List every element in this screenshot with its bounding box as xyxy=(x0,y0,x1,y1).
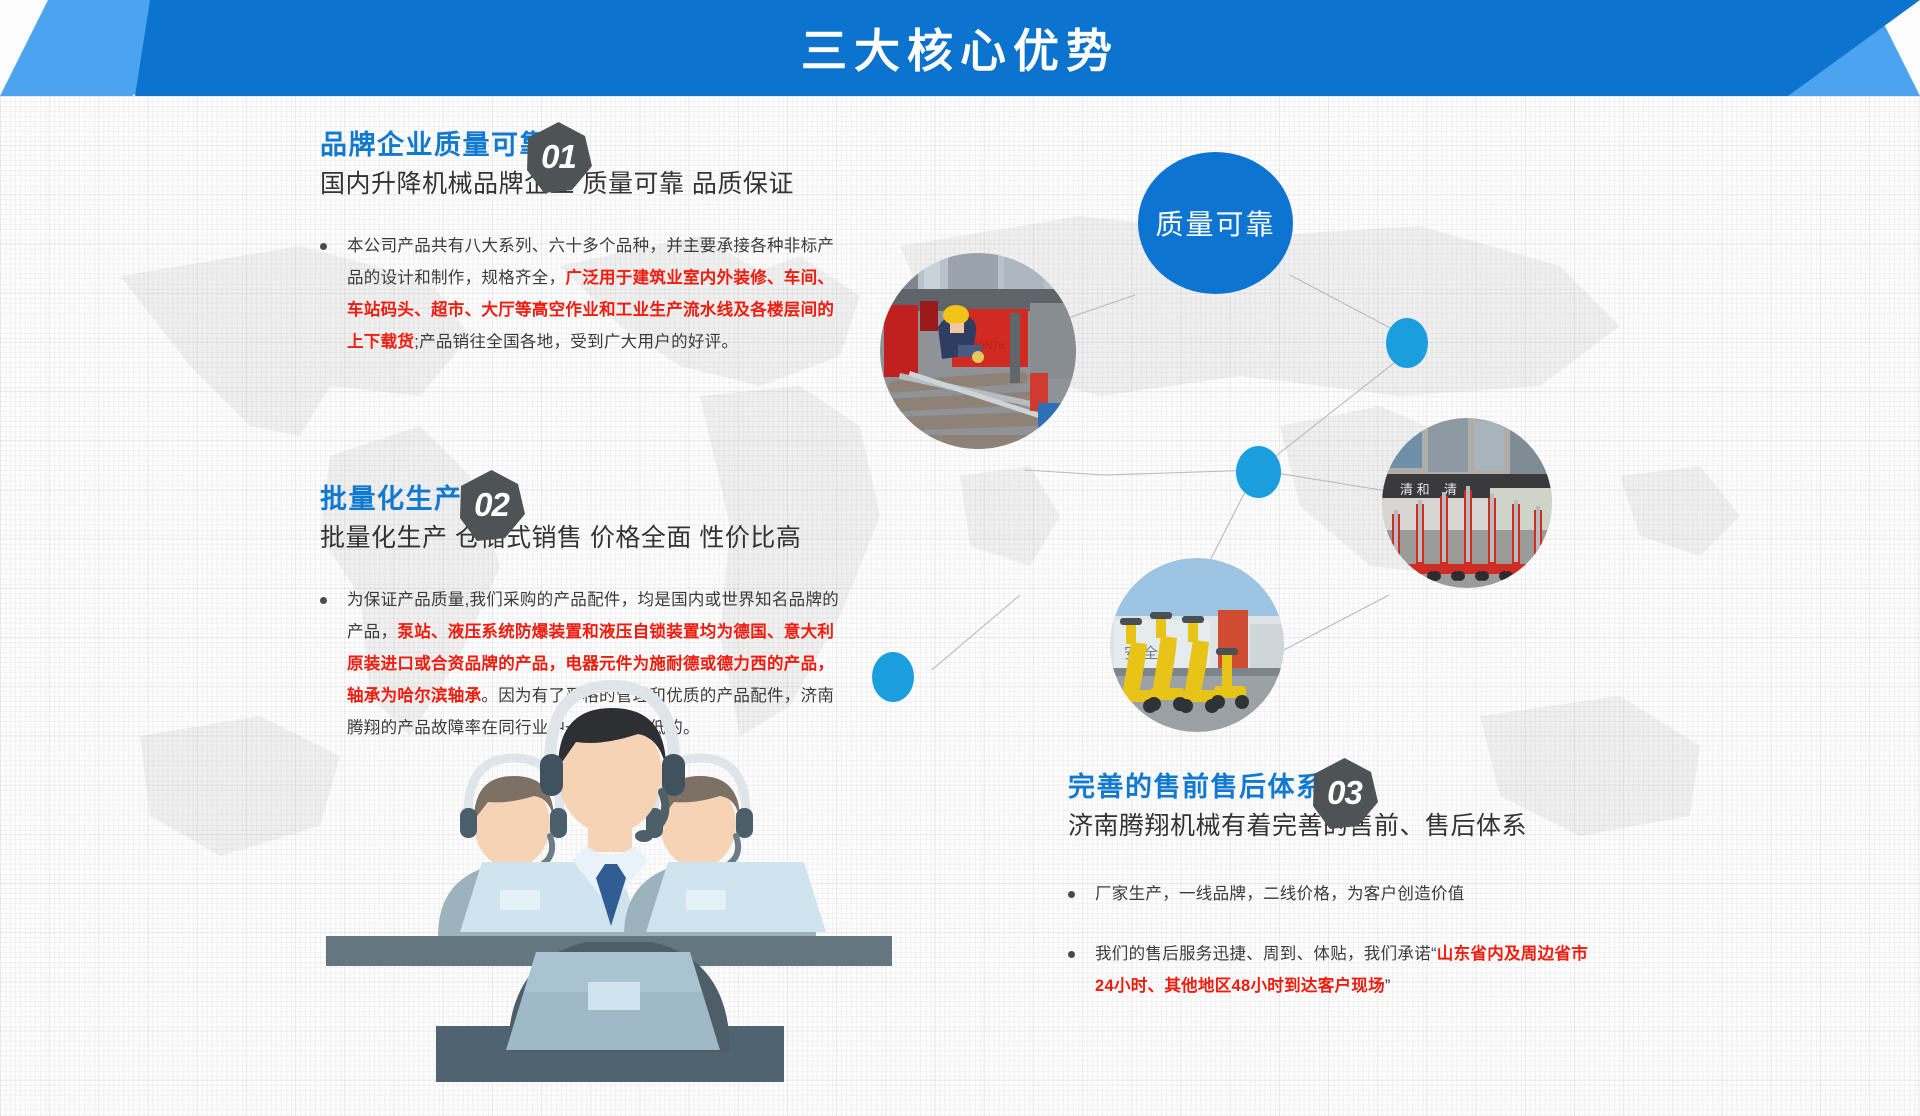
section-01-title: 品牌企业质量可靠 xyxy=(320,128,548,162)
storefront-lifts-photo: 清 和 清 xyxy=(1382,418,1552,588)
bullet-item: 本公司产品共有八大系列、六十多个品种，并主要承接各种非标产品的设计和制作，规格齐… xyxy=(320,230,840,358)
section-03-number-badge: 03 xyxy=(1311,758,1378,829)
bullet-item: 我们的售后服务迅捷、周到、体贴，我们承诺“山东省内及周边省市24小时、其他地区4… xyxy=(1068,938,1588,1002)
bullet-text: 本公司产品共有八大系列、六十多个品种，并主要承接各种非标产品的设计和制作，规格齐… xyxy=(347,230,840,358)
poster-page: 三大核心优势 品牌企业质量可靠 01 国内升降机械品牌企业 质量可靠 品质保证 … xyxy=(0,0,1920,1116)
bullet-text: 我们的售后服务迅捷、周到、体贴，我们承诺“山东省内及周边省市24小时、其他地区4… xyxy=(1095,938,1588,1002)
bullet-dot-icon xyxy=(320,243,327,250)
bullet-dot-icon xyxy=(1068,951,1075,958)
center-quality-label: 质量可靠 xyxy=(1155,203,1275,243)
section-01-bullets: 本公司产品共有八大系列、六十多个品种，并主要承接各种非标产品的设计和制作，规格齐… xyxy=(320,230,840,358)
section-02-head: 批量化生产 02 批量化生产 仓储式销售 价格全面 性价比高 xyxy=(320,482,840,556)
section-02-number: 02 xyxy=(474,486,509,526)
bullet-dot-icon xyxy=(320,597,327,604)
section-02-number-badge: 02 xyxy=(458,470,525,541)
svg-text:清 和: 清 和 xyxy=(1400,482,1430,497)
section-03-bullets: 厂家生产，一线品牌，二线价格，为客户创造价值 我们的售后服务迅捷、周到、体贴，我… xyxy=(1068,878,1588,1002)
quality-network-diagram: 质量可靠 640N7u xyxy=(860,140,1560,660)
section-03-number: 03 xyxy=(1327,774,1362,814)
advantage-section-03: 完善的售前售后体系 03 济南腾翔机械有着完善的售前、售后体系 厂家生产，一线品… xyxy=(1068,770,1588,1024)
call-center-agents-illustration xyxy=(300,640,920,1116)
bullet-text: 厂家生产，一线品牌，二线价格，为客户创造价值 xyxy=(1095,878,1465,910)
network-node-2 xyxy=(1236,446,1281,498)
factory-cutting-machine-photo: 640N7u xyxy=(880,253,1076,449)
bullet-item: 厂家生产，一线品牌，二线价格，为客户创造价值 xyxy=(1068,878,1588,910)
section-03-title: 完善的售前售后体系 xyxy=(1068,770,1325,804)
page-title: 三大核心优势 xyxy=(0,0,1920,96)
advantage-section-01: 品牌企业质量可靠 01 国内升降机械品牌企业 质量可靠 品质保证 本公司产品共有… xyxy=(320,128,840,380)
page-header: 三大核心优势 xyxy=(0,0,1920,96)
center-quality-circle: 质量可靠 xyxy=(1138,152,1293,294)
yard-boom-lifts-photo: 安 全 xyxy=(1110,558,1284,732)
section-03-head: 完善的售前售后体系 03 济南腾翔机械有着完善的售前、售后体系 xyxy=(1068,770,1588,844)
section-01-number-badge: 01 xyxy=(525,122,592,193)
section-01-head: 品牌企业质量可靠 01 国内升降机械品牌企业 质量可靠 品质保证 xyxy=(320,128,840,202)
bullet-dot-icon xyxy=(1068,891,1075,898)
section-02-subtitle: 批量化生产 仓储式销售 价格全面 性价比高 xyxy=(320,520,840,556)
network-node-1 xyxy=(1386,318,1428,368)
section-02-title: 批量化生产 xyxy=(320,482,463,516)
section-01-number: 01 xyxy=(541,138,576,178)
